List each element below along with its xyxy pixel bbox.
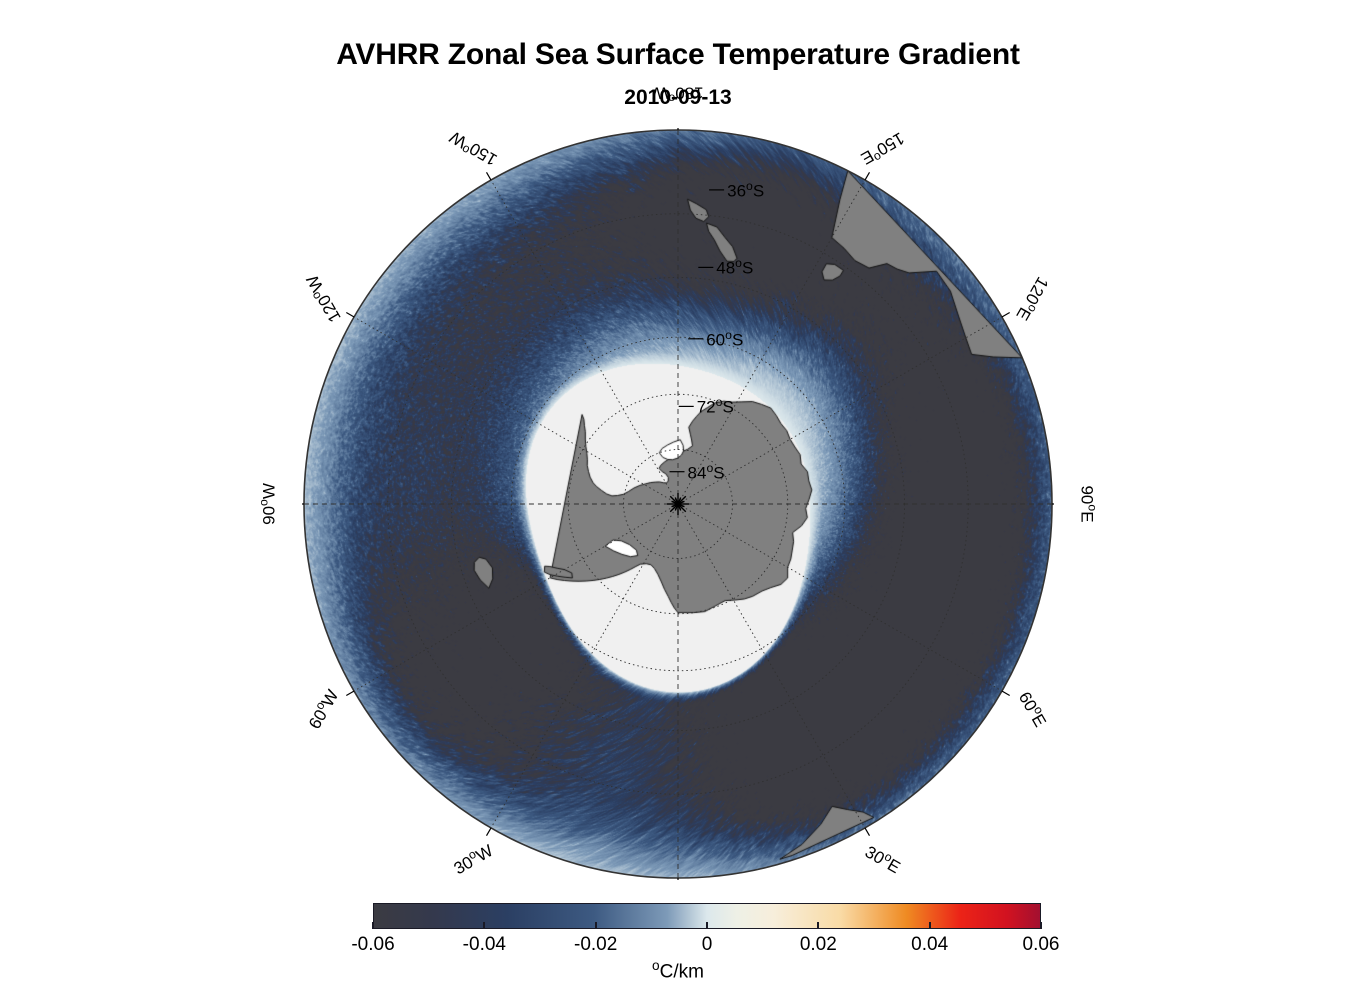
lon-label-180W: 180oW [652, 83, 703, 106]
colorbar-tick-label: -0.02 [536, 934, 656, 956]
lon-tick [346, 691, 354, 696]
lat-label-72S: 72oS [697, 395, 734, 418]
colorbar-gradient [374, 904, 1040, 928]
lat-label-84S: 84oS [688, 461, 725, 484]
colorbar-unit-label: oC/km [0, 958, 1356, 983]
lon-tick [865, 172, 870, 180]
colorbar-tick-label: 0 [647, 934, 767, 956]
map-overlay [302, 128, 1054, 880]
graticule-meridian [678, 504, 865, 828]
lon-tick [1002, 313, 1010, 318]
lon-label-90E: 90oE [1077, 485, 1100, 522]
lon-tick [1002, 691, 1010, 696]
lon-tick [487, 172, 492, 180]
page-title: AVHRR Zonal Sea Surface Temperature Grad… [0, 38, 1356, 72]
colorbar [373, 903, 1041, 929]
lon-tick [865, 828, 870, 836]
polar-map: 0o30oE60oE90oE120oE150oE180oW150oW120oW9… [302, 128, 1054, 880]
lon-label-90W: 90oW [257, 483, 280, 525]
colorbar-tick-label: 0.02 [758, 934, 878, 956]
lat-label-60S: 60oS [706, 328, 743, 351]
colorbar-tick-label: -0.04 [424, 934, 544, 956]
lat-label-36S: 36oS [727, 179, 764, 202]
colorbar-tick-label: 0.06 [981, 934, 1101, 956]
lon-tick [346, 313, 354, 318]
lat-label-48S: 48oS [716, 256, 753, 279]
colorbar-tick-label: -0.06 [313, 934, 433, 956]
lon-tick [487, 828, 492, 836]
colorbar-tick-label: 0.04 [870, 934, 990, 956]
